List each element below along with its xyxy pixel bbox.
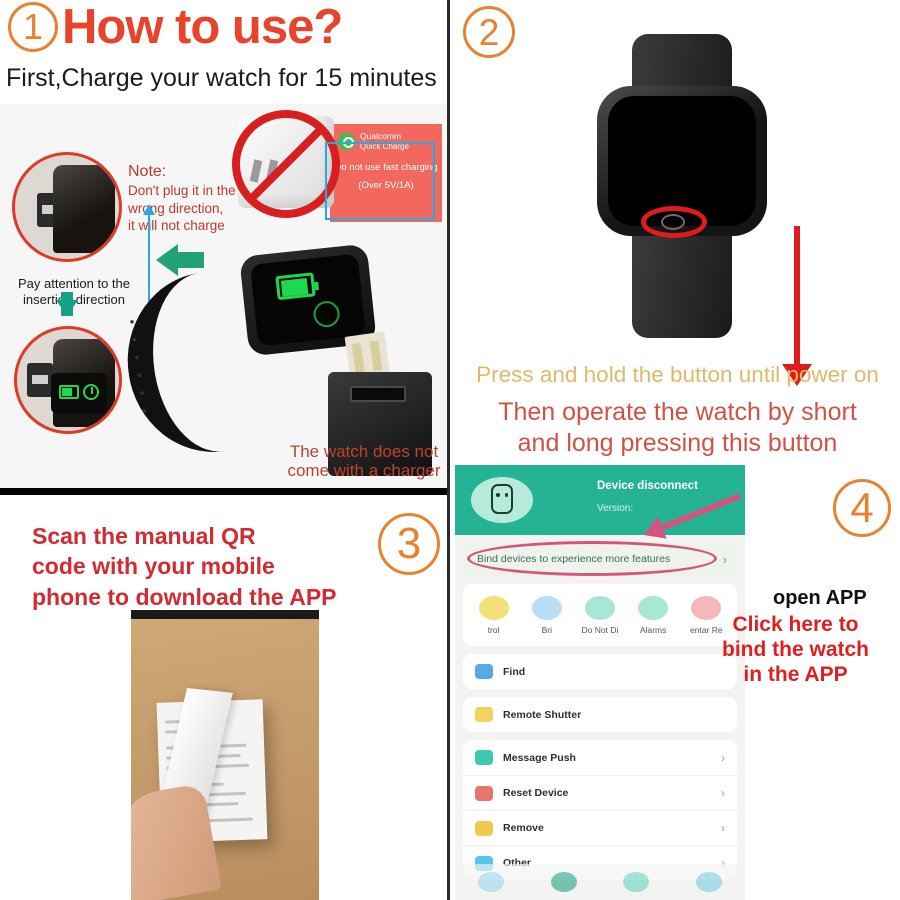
battery-charging-icon [275, 272, 315, 300]
page-title: How to use? [62, 3, 342, 52]
button-highlight-ellipse [641, 206, 707, 238]
blue-highlight-box [325, 142, 435, 220]
list-item-label: Reset Device [503, 787, 568, 799]
bind-highlight-ellipse [467, 541, 717, 576]
power-button-icon [312, 300, 341, 329]
watch-body-shape [53, 165, 115, 253]
bind-devices-row[interactable]: Bind devices to experience more features… [463, 544, 737, 576]
quick-action-0[interactable]: trol [468, 596, 520, 635]
chevron-right-icon: › [721, 821, 725, 835]
power-icon [83, 384, 99, 400]
list-item[interactable]: Reset Device› [463, 775, 737, 810]
quick-action-icon [585, 596, 615, 620]
note-heading: Note: [128, 163, 166, 180]
panel-scan-qr: Scan the manual QR code with your mobile… [0, 495, 447, 900]
charge-subtitle: First,Charge your watch for 15 minutes [6, 64, 437, 93]
list-item[interactable]: Remove› [463, 810, 737, 845]
correct-direction-inset [14, 326, 122, 434]
wrong-direction-inset [12, 152, 122, 262]
step-number-4: 4 [833, 479, 891, 537]
settings-card-secondary: Remote Shutter [463, 697, 737, 732]
quick-action-2[interactable]: Do Not Di [574, 596, 626, 635]
scan-line-2: code with your mobile [32, 553, 275, 579]
quick-action-icon [479, 596, 509, 620]
quick-action-icon [532, 596, 562, 620]
quick-action-label: Bri [521, 625, 573, 635]
chevron-right-icon: › [721, 786, 725, 800]
tab-device[interactable] [478, 872, 504, 892]
column-divider [447, 0, 450, 900]
usb-slot [350, 386, 406, 402]
press-hold-text: Press and hold the button until power on [455, 362, 900, 388]
charging-photo: Note: Don't plug it in the wrong directi… [0, 104, 447, 495]
click-line-3: in the APP [743, 663, 847, 686]
list-item-label: Remote Shutter [503, 709, 581, 721]
scan-qr-heading: Scan the manual QR code with your mobile… [32, 521, 362, 612]
watch-screen [250, 254, 366, 347]
no-charger-note: The watch does not come with a charger [278, 442, 447, 480]
no-charger-line-2: come with a charger [287, 461, 440, 480]
qualcomm-brand: Qualcomm [360, 132, 409, 142]
list-item-label: Find [503, 666, 525, 678]
tab-health[interactable] [551, 872, 577, 892]
panel-how-to-use: 1 How to use? First,Charge your watch fo… [0, 0, 447, 495]
watch-mini-screen [51, 373, 107, 413]
step-number-3: 3 [378, 513, 440, 575]
chevron-right-icon: › [723, 552, 727, 567]
search-icon [475, 664, 493, 679]
no-charger-line-1: The watch does not [290, 442, 438, 461]
usb-port-icon-2 [27, 363, 53, 397]
list-item-label: Message Push [503, 752, 576, 764]
quick-action-label: Alarms [627, 625, 679, 635]
smartwatch-photo [577, 18, 787, 348]
note-line-1: Don't plug it in the [128, 183, 236, 198]
list-item[interactable]: Message Push› [463, 740, 737, 775]
version-label: Version: [597, 503, 633, 514]
green-arrow-down-icon [56, 300, 78, 316]
panel-app-binding: Device disconnect Version: Bind devices … [455, 465, 900, 900]
quick-action-label: Do Not Di [574, 625, 626, 635]
tab-data[interactable] [623, 872, 649, 892]
settings-card-tertiary: Message Push›Reset Device›Remove›Other› [463, 740, 737, 880]
operate-line-2: and long pressing this button [518, 429, 838, 457]
manual-photo [131, 610, 319, 900]
list-item[interactable]: Remote Shutter [463, 697, 737, 732]
scan-line-3: phone to download the APP [32, 584, 337, 610]
undo-arrow-icon [475, 786, 493, 801]
panel1-heading: 1 How to use? [8, 2, 342, 52]
quick-action-icon [638, 596, 668, 620]
click-line-2: bind the watch [722, 638, 869, 661]
step-number-1: 1 [8, 2, 58, 52]
camera-icon [475, 707, 493, 722]
paper-plane-icon [475, 750, 493, 765]
red-arrow-down-icon [794, 226, 800, 366]
attention-line-1: Pay attention to the [18, 276, 130, 291]
instruction-sheet: 1 How to use? First,Charge your watch fo… [0, 0, 900, 900]
prohibition-sign-icon [232, 110, 340, 218]
scan-line-1: Scan the manual QR [32, 523, 256, 549]
device-status-label: Device disconnect [597, 480, 698, 492]
battery-icon [59, 385, 79, 399]
operate-watch-text: Then operate the watch by short and long… [455, 397, 900, 458]
quick-action-label: trol [468, 625, 520, 635]
operate-line-1: Then operate the watch by short [498, 398, 857, 426]
app-header: Device disconnect Version: [455, 465, 745, 535]
step-number-2: 2 [463, 6, 515, 58]
watch-avatar-icon [471, 477, 533, 523]
open-app-annotation: open APP [773, 587, 867, 610]
app-tab-bar[interactable] [455, 864, 745, 900]
watch-body-shape-2 [53, 339, 115, 427]
list-item-label: Remove [503, 822, 544, 834]
chevron-right-icon: › [721, 751, 725, 765]
panel-power-on: 2 Press and hold the button until power … [455, 0, 900, 465]
quick-action-1[interactable]: Bri [521, 596, 573, 635]
quick-action-3[interactable]: Alarms [627, 596, 679, 635]
link-icon [475, 821, 493, 836]
tab-profile[interactable] [696, 872, 722, 892]
click-here-annotation: Click here to bind the watch in the APP [691, 613, 900, 687]
click-line-1: Click here to [732, 613, 858, 636]
